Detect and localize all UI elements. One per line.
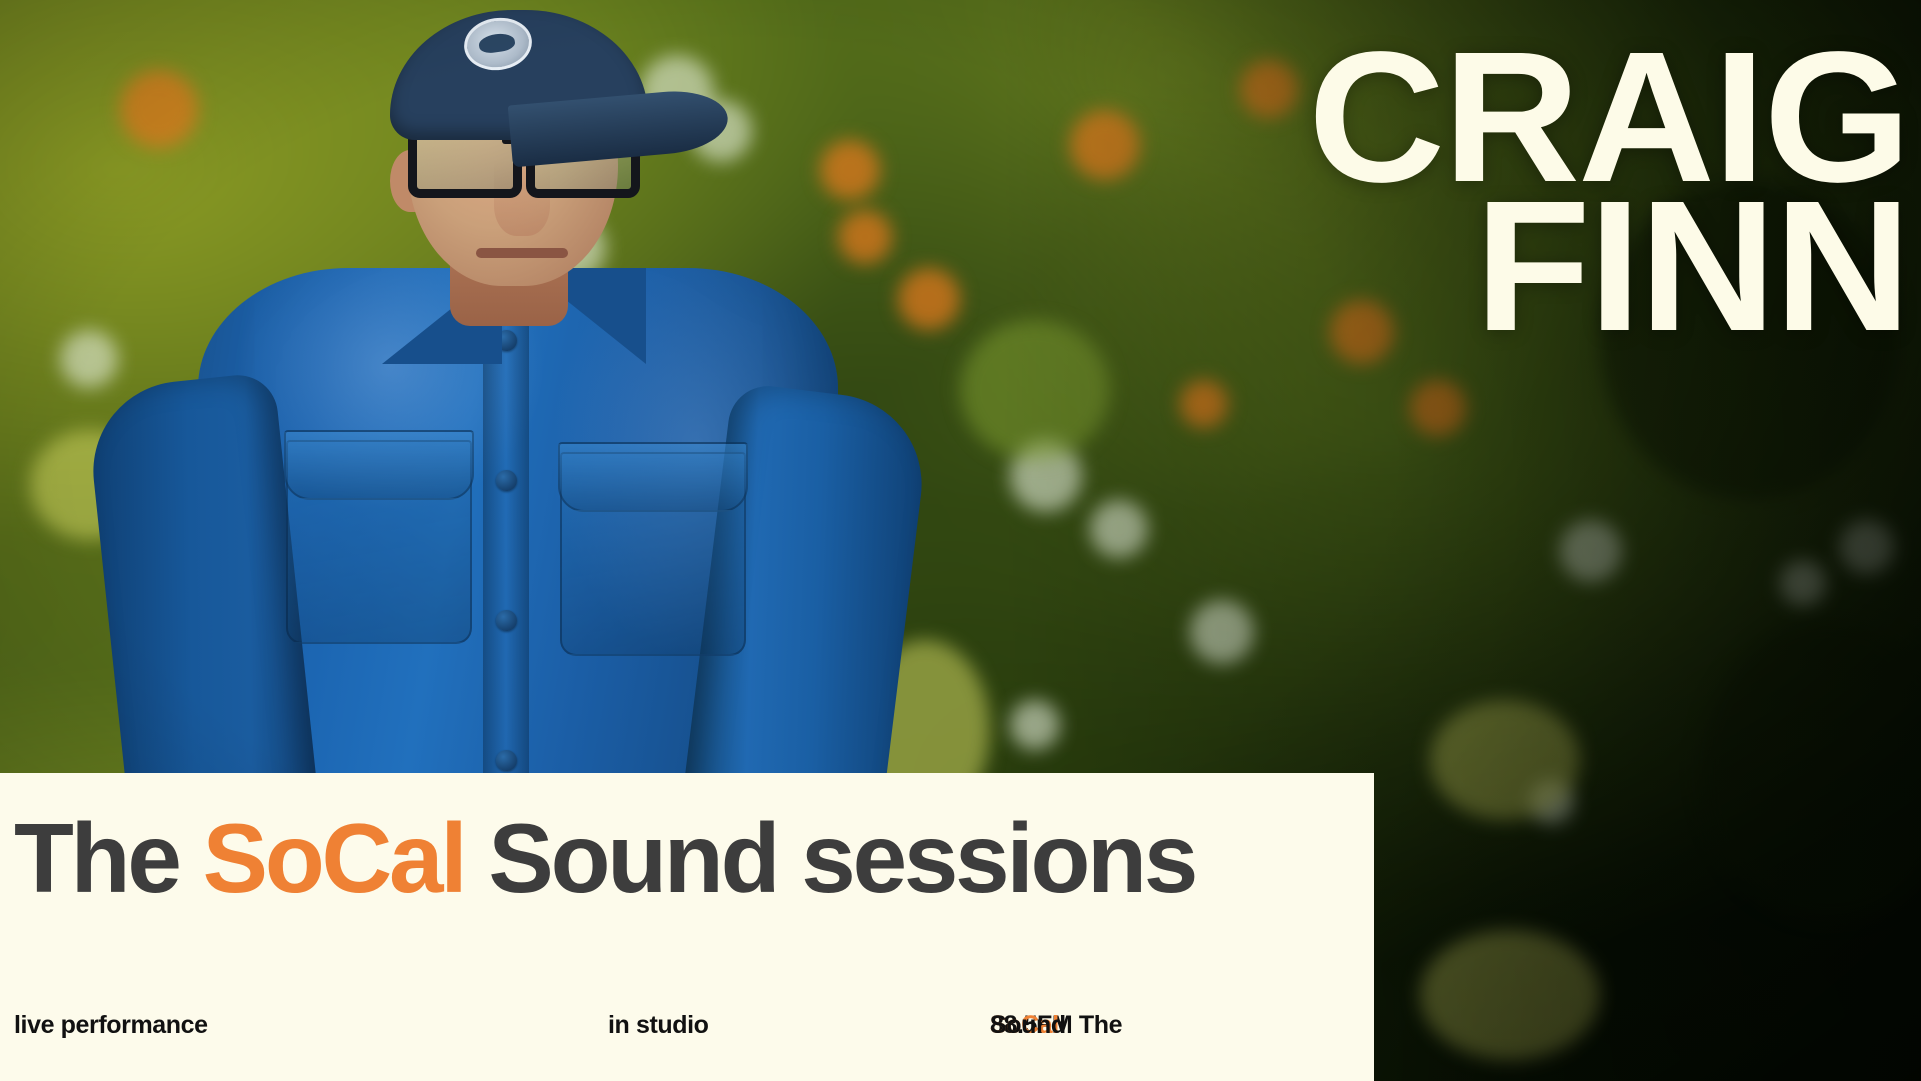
show-title: The SoCal Sound sessions [14,809,1195,907]
artist-name: CRAIG FINN [1314,44,1903,342]
meta-in-studio: in studio [608,1011,709,1040]
show-title-part-2: Sound sessions [464,803,1195,913]
show-title-accent: SoCal [203,803,465,913]
artist-last-name: FINN [1308,193,1909,342]
title-panel: The SoCal Sound sessions live performanc… [0,773,1374,1081]
show-title-part-1: The [14,803,203,913]
station-suffix: Sound [990,1011,1066,1040]
meta-row: live performance in studio 88.5FM The So… [0,1011,1374,1081]
poster: CRAIG FINN The SoCal Sound sessions live… [0,0,1921,1081]
meta-live-performance: live performance [14,1011,208,1040]
